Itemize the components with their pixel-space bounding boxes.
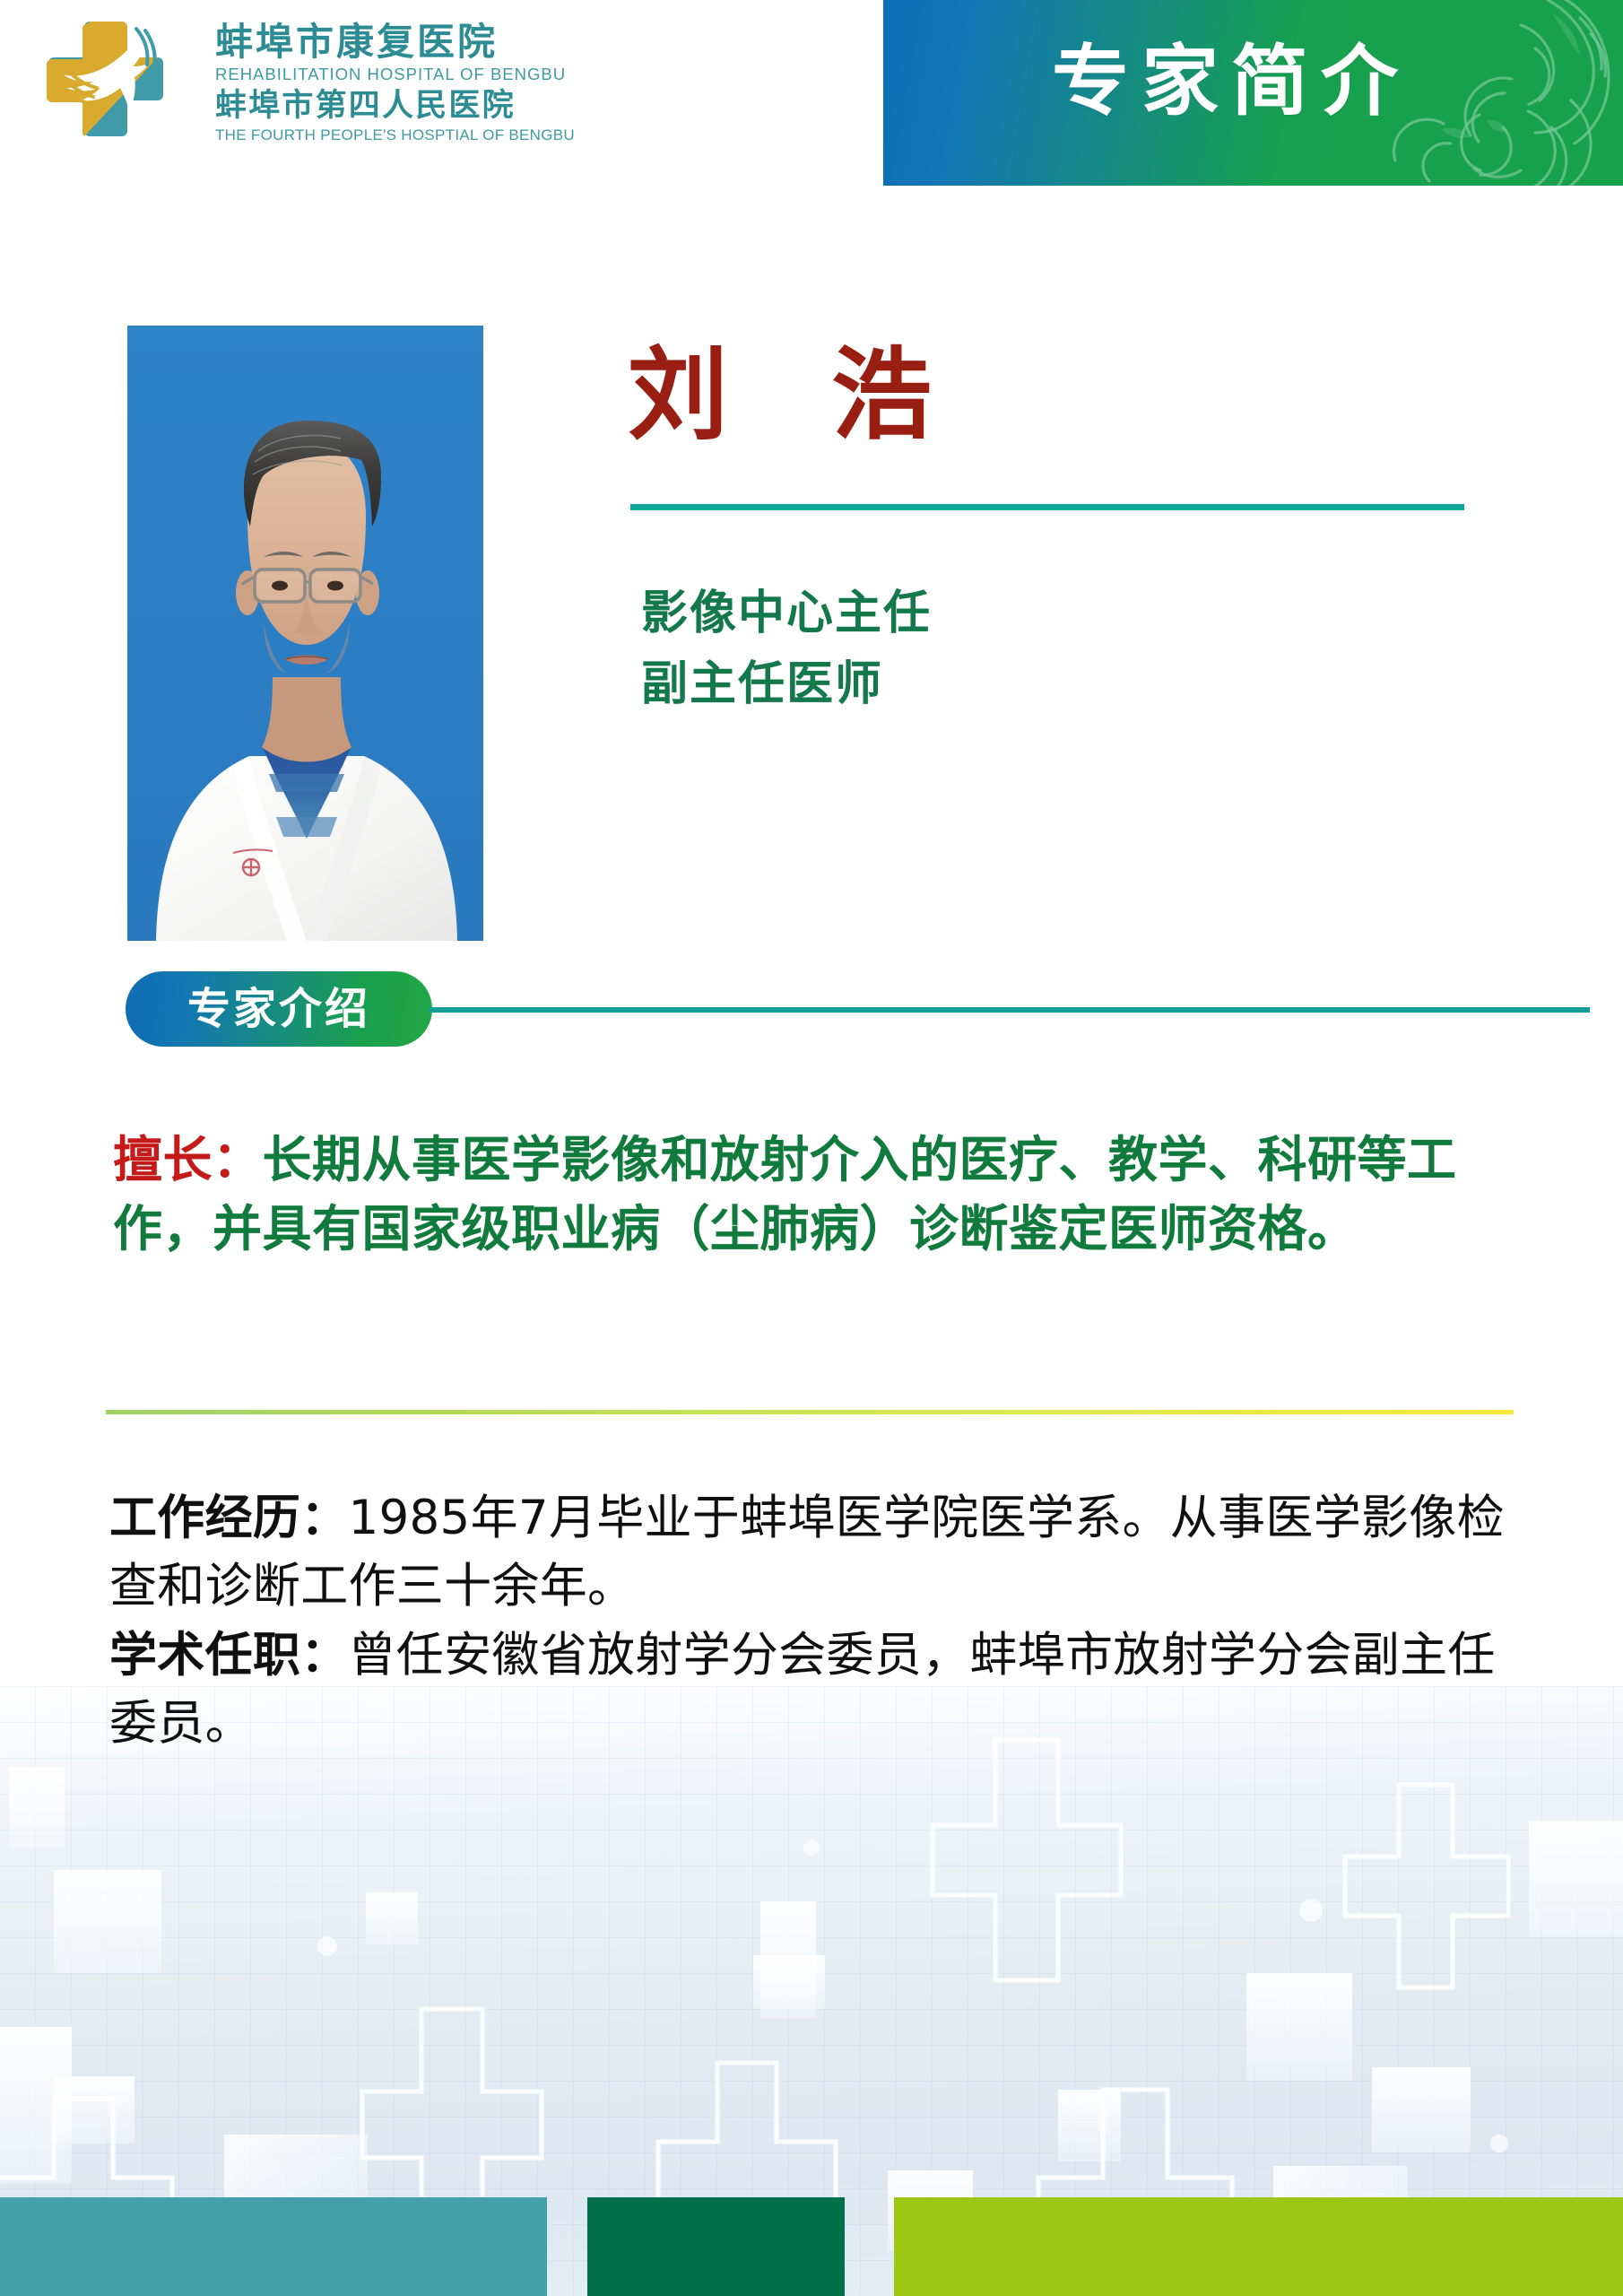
banner-title: 专家简介 <box>1052 43 1410 120</box>
header-banner: 专家简介 <box>883 0 1623 186</box>
hospital-logo-text: 蚌埠市康复医院 REHABILITATION HOSPITAL OF BENGB… <box>215 22 637 147</box>
footer-bar-green <box>587 2197 845 2296</box>
hospital-name-en-secondary: THE FOURTH PEOPLE'S HOSPTIAL OF BENGBU <box>215 124 637 147</box>
doctor-title-primary: 影像中心主任 <box>641 578 932 649</box>
name-underline-rule <box>630 504 1464 510</box>
work-history-label: 工作经历： <box>109 1491 349 1545</box>
specialty-paragraph: 擅长：长期从事医学影像和放射介入的医疗、教学、科研等工作，并具有国家级职业病（尘… <box>113 1126 1512 1264</box>
expert-profile-poster: 蚌埠市康复医院 REHABILITATION HOSPITAL OF BENGB… <box>0 0 1623 2296</box>
footer-bar-teal <box>0 2197 547 2296</box>
poster-header: 蚌埠市康复医院 REHABILITATION HOSPITAL OF BENGB… <box>0 0 1623 186</box>
section-badge-rule <box>429 1007 1590 1013</box>
experience-entry-academic: 学术任职：曾任安徽省放射学分会委员，蚌埠市放射学分会副主任委员。 <box>109 1622 1526 1759</box>
hospital-name-cn-primary: 蚌埠市康复医院 <box>215 22 637 62</box>
doctor-name: 刘 浩 <box>628 345 966 446</box>
hospital-name-en-primary: REHABILITATION HOSPITAL OF BENGBU <box>215 62 637 87</box>
experience-section: 工作经历：1985年7月毕业于蚌埠医学院医学系。从事医学影像检查和诊断工作三十余… <box>109 1484 1526 1758</box>
doctor-portrait-photo <box>127 326 483 941</box>
specialty-text: 长期从事医学影像和放射介入的医疗、教学、科研等工作，并具有国家级职业病（尘肺病）… <box>113 1131 1457 1257</box>
doctor-name-block: 刘 浩 <box>628 345 966 446</box>
section-gradient-divider <box>106 1410 1514 1414</box>
header-logo-area: 蚌埠市康复医院 REHABILITATION HOSPITAL OF BENGB… <box>0 0 883 186</box>
doctor-title-secondary: 副主任医师 <box>641 649 932 720</box>
section-badge-expert-intro: 专家介绍 <box>126 971 432 1047</box>
hospital-cross-bird-logo-icon <box>43 16 169 142</box>
footer-bar-lime <box>894 2197 1623 2296</box>
poster-footer <box>0 2197 1623 2296</box>
hospital-name-cn-secondary: 蚌埠市第四人民医院 <box>215 87 637 124</box>
doctor-titles: 影像中心主任 副主任医师 <box>641 578 932 720</box>
specialty-label: 擅长： <box>113 1131 263 1188</box>
expert-intro-section-header: 专家介绍 <box>126 971 1471 1048</box>
experience-entry-work: 工作经历：1985年7月毕业于蚌埠医学院医学系。从事医学影像检查和诊断工作三十余… <box>109 1484 1526 1622</box>
section-badge-label: 专家介绍 <box>187 987 370 1031</box>
academic-roles-label: 学术任职： <box>109 1628 349 1683</box>
